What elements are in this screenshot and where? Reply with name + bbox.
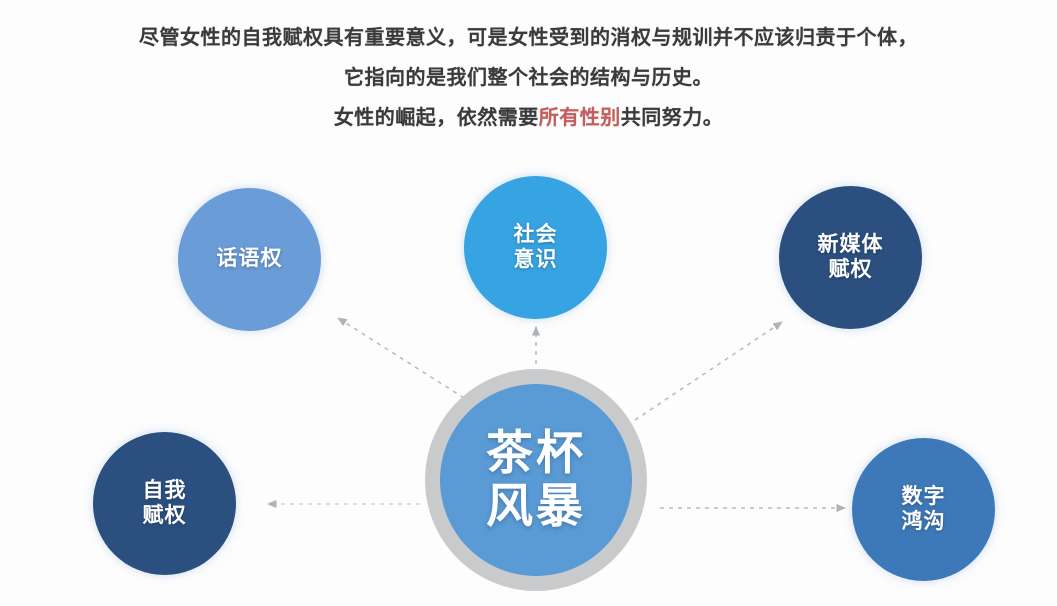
node-social-awareness-label: 社会意识	[514, 223, 558, 273]
node-new-media-empowerment-label: 新媒体赋权	[818, 233, 884, 283]
caption-highlight-all-genders: 所有性别	[539, 107, 621, 129]
node-center-teacup-storm[interactable]: 茶杯风暴	[425, 369, 647, 591]
caption-line-2: 它指向的是我们整个社会的结构与历史。	[0, 58, 1057, 98]
caption-block: 尽管女性的自我赋权具有重要意义，可是女性受到的消权与规训并不应该归责于个体， 它…	[0, 18, 1057, 138]
connector-center-to-new-media	[620, 322, 782, 430]
connector-center-to-voice	[338, 318, 464, 398]
slide-canvas: 尽管女性的自我赋权具有重要意义，可是女性受到的消权与规训并不应该归责于个体， 它…	[0, 0, 1057, 606]
node-center-label: 茶杯风暴	[486, 427, 586, 532]
node-social-awareness[interactable]: 社会意识	[464, 176, 607, 319]
node-self-empowerment-label: 自我赋权	[143, 479, 187, 529]
node-center-inner: 茶杯风暴	[440, 384, 632, 576]
node-voice[interactable]: 话语权	[178, 188, 321, 331]
node-self-empowerment[interactable]: 自我赋权	[93, 432, 236, 575]
node-digital-divide[interactable]: 数字鸿沟	[852, 438, 995, 581]
node-new-media-empowerment[interactable]: 新媒体赋权	[779, 186, 922, 329]
node-voice-label: 话语权	[217, 247, 283, 272]
caption-line-1: 尽管女性的自我赋权具有重要意义，可是女性受到的消权与规训并不应该归责于个体，	[0, 18, 1057, 58]
caption-line-3-before: 女性的崛起，依然需要	[334, 107, 539, 129]
caption-line-3: 女性的崛起，依然需要所有性别共同努力。	[0, 98, 1057, 138]
node-digital-divide-label: 数字鸿沟	[902, 485, 946, 535]
caption-line-3-after: 共同努力。	[621, 107, 724, 129]
